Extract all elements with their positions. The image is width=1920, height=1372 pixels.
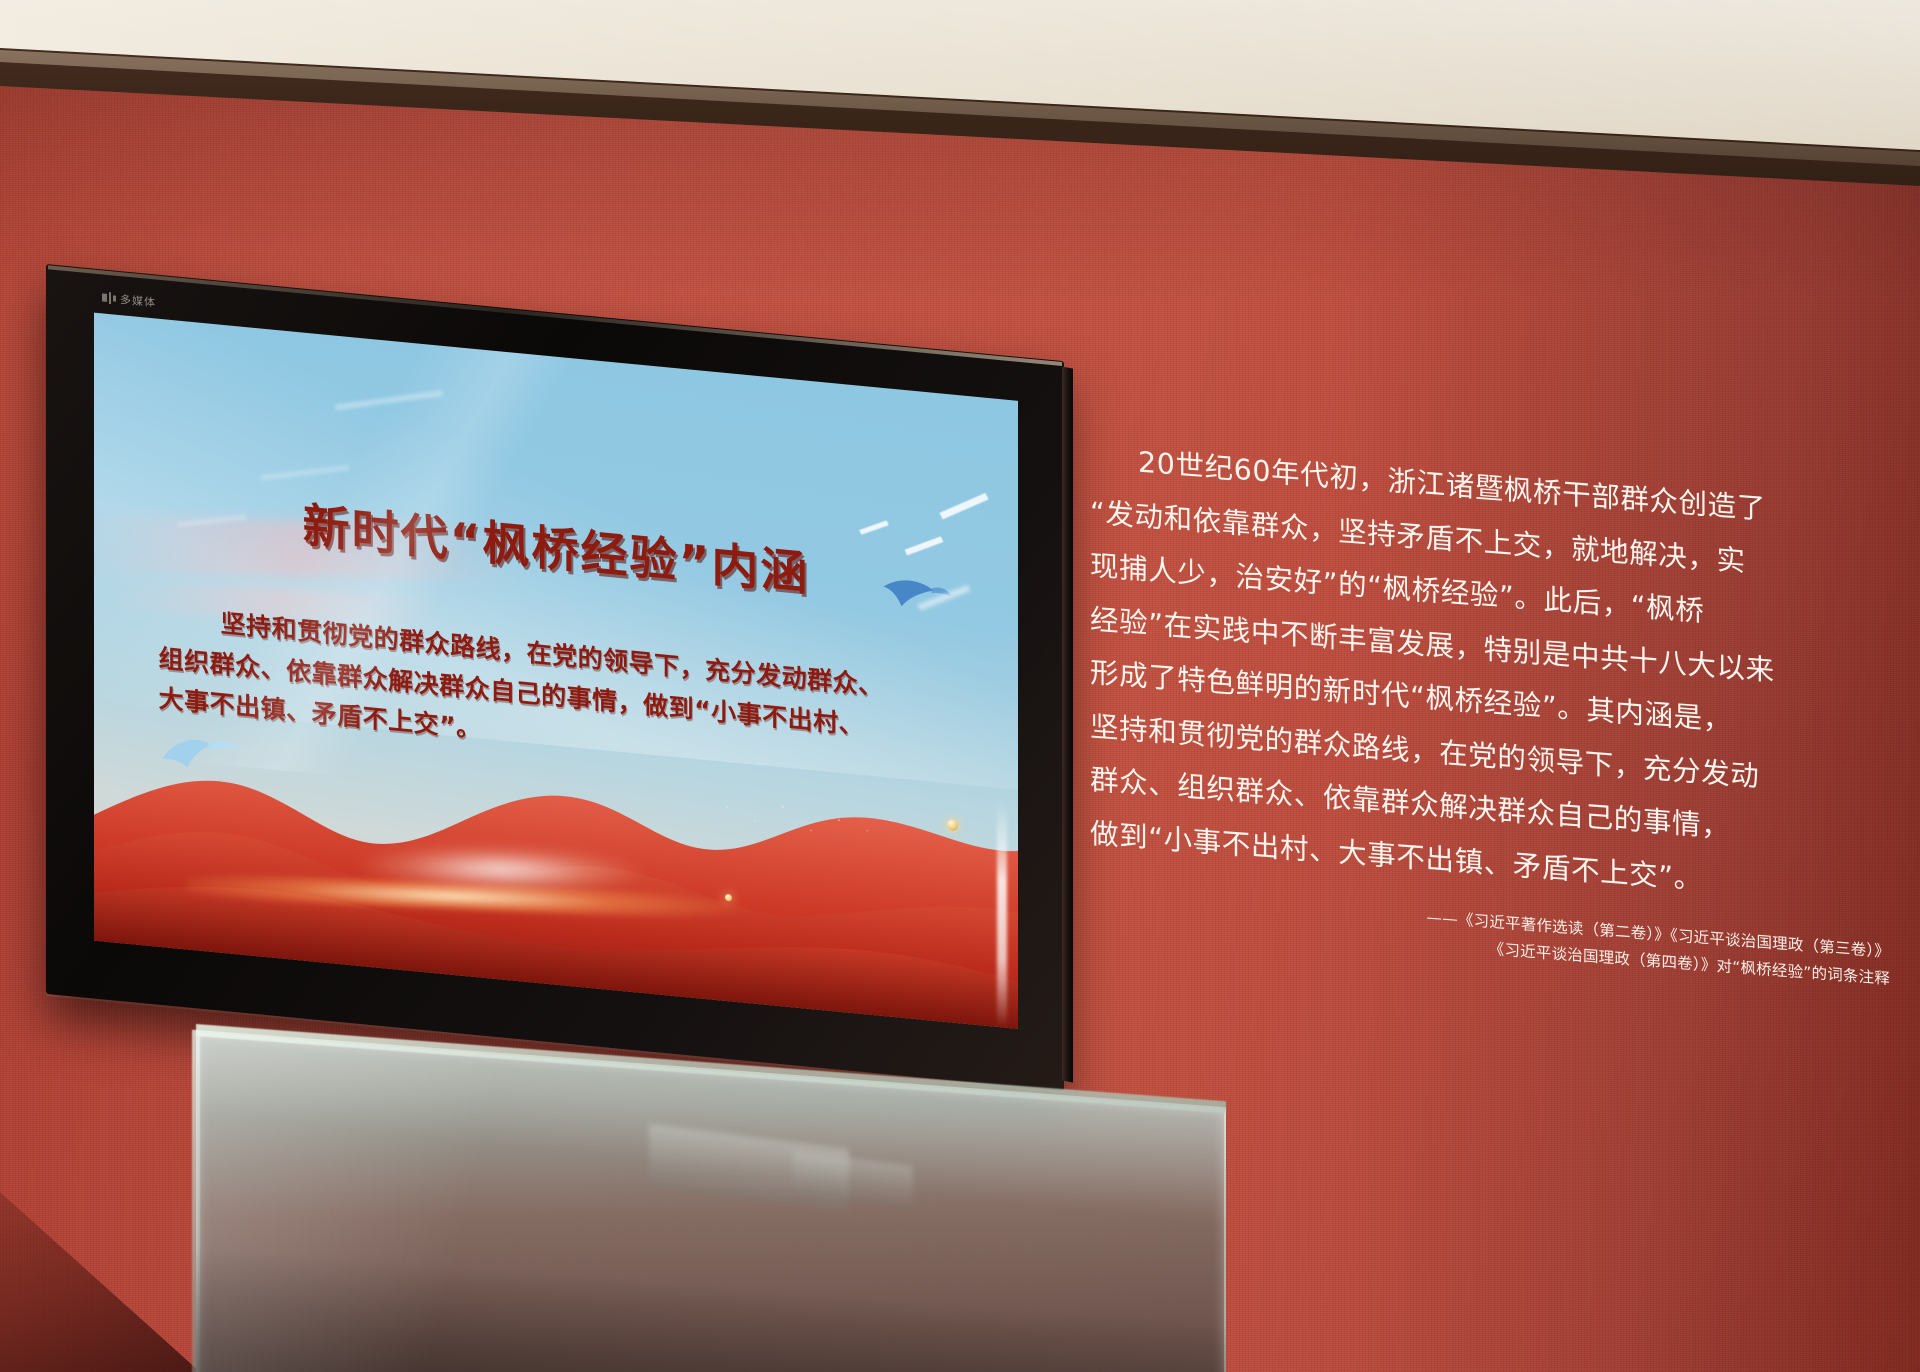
screen-frame-side-edge <box>1062 366 1073 1082</box>
exhibition-photo-scene: 多媒体 <box>0 0 1920 1372</box>
screen-glare-sheet <box>112 314 648 805</box>
wall-text-block: 20世纪60年代初，浙江诸暨枫桥干部群众创造了 “发动和依靠群众，坚持矛盾不上交… <box>1090 432 1890 993</box>
screen-surface[interactable]: 新时代“枫桥经验”内涵 坚持和贯彻党的群众路线，在党的领导下，充分发动群众、 组… <box>94 313 1018 1029</box>
wall-paragraph: 20世纪60年代初，浙江诸暨枫桥干部群众创造了 “发动和依靠群众，坚持矛盾不上交… <box>1090 432 1890 921</box>
screen-glare-vertical <box>997 801 1007 1028</box>
screen-brand-label: 多媒体 <box>120 291 156 310</box>
display-screen-assembly[interactable]: 多媒体 <box>46 264 1064 1091</box>
